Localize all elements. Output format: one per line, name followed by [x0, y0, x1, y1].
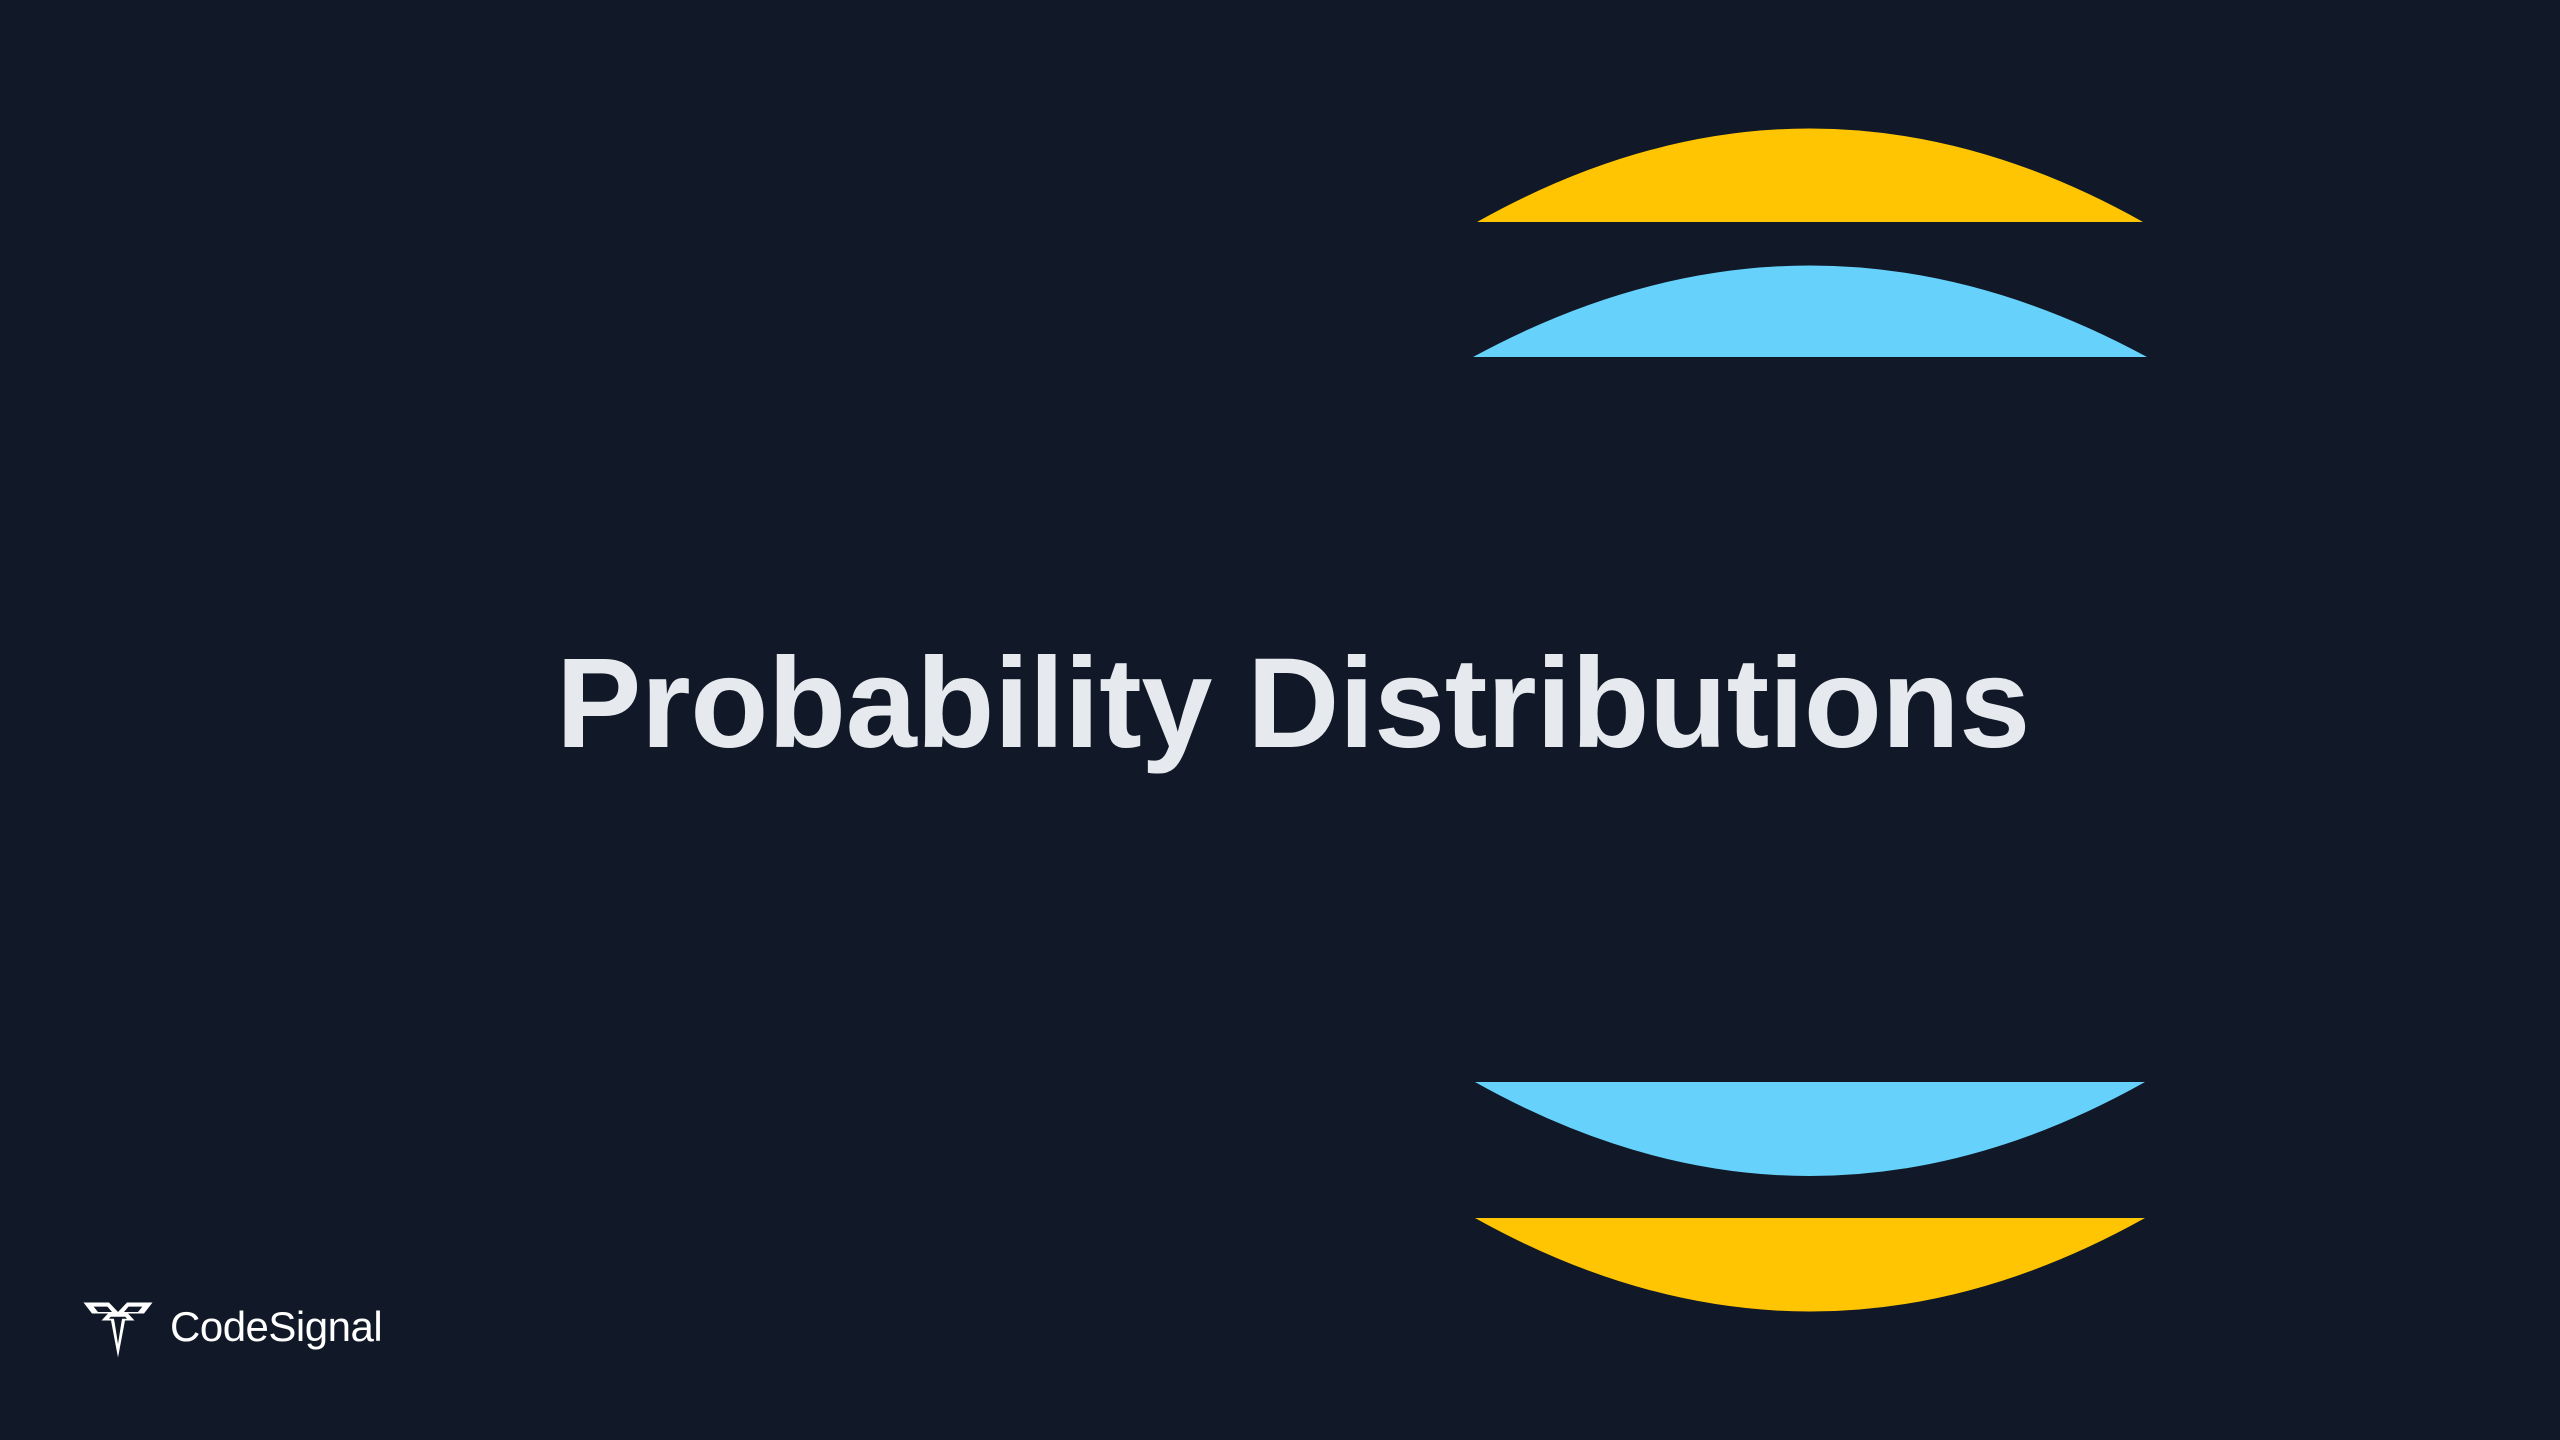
slide-canvas: Probability Distributions CodeSignal — [0, 0, 2560, 1440]
codesignal-wings-icon — [82, 1300, 154, 1360]
blue-bowl-down-shape — [1475, 1082, 2145, 1176]
yellow-dome-up-shape — [1477, 129, 2143, 223]
blue-dome-up-shape — [1473, 266, 2147, 358]
page-title: Probability Distributions — [556, 640, 2116, 768]
decoration-bottom-right — [1470, 1078, 2150, 1366]
codesignal-wordmark: CodeSignal — [170, 1307, 438, 1353]
codesignal-logo: CodeSignal — [82, 1300, 438, 1360]
decoration-top-right — [1470, 78, 2150, 366]
yellow-bowl-down-shape — [1475, 1218, 2145, 1312]
codesignal-wordmark-text: CodeSignal — [170, 1307, 382, 1350]
title-block: Probability Distributions — [556, 640, 2116, 768]
